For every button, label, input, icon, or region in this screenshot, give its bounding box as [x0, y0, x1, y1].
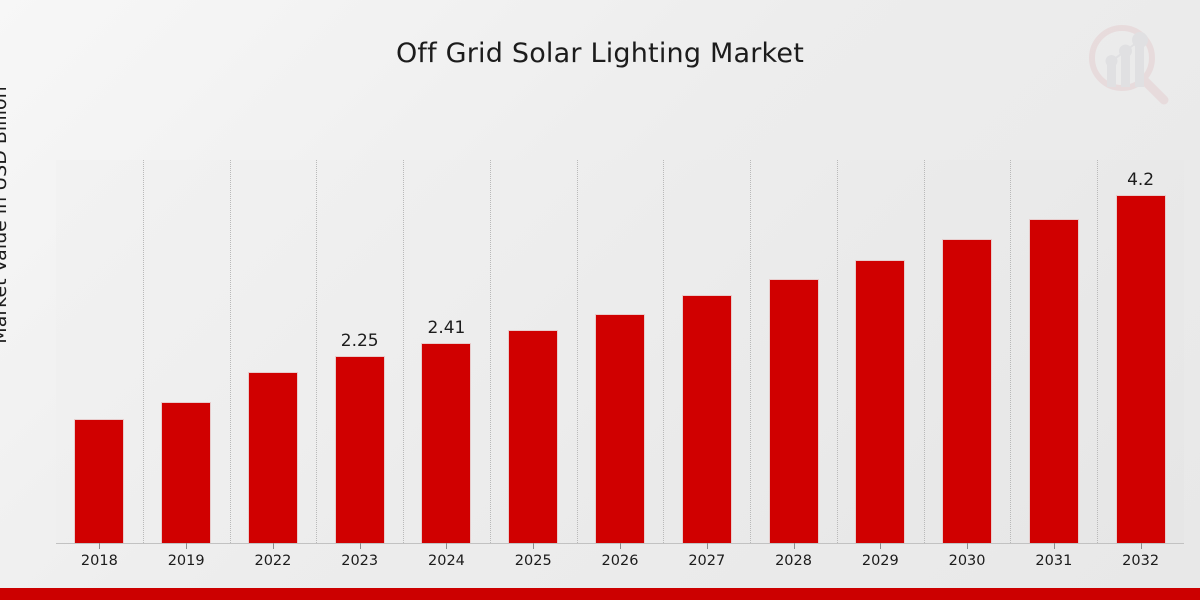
x-tick-label-2023: 2023 — [320, 553, 400, 569]
x-tick-mark-2032 — [1141, 543, 1142, 549]
bar-2018[interactable] — [74, 419, 124, 543]
x-tick-label-2027: 2027 — [667, 553, 747, 569]
x-tick-mark-2024 — [446, 543, 447, 549]
x-tick-label-2030: 2030 — [927, 553, 1007, 569]
gridline — [924, 160, 925, 543]
x-tick-label-2032: 2032 — [1101, 553, 1181, 569]
x-tick-label-2026: 2026 — [580, 553, 660, 569]
x-tick-mark-2018 — [99, 543, 100, 549]
bar-value-label-2024: 2.41 — [401, 318, 491, 338]
x-tick-mark-2031 — [1054, 543, 1055, 549]
x-tick-label-2018: 2018 — [59, 553, 139, 569]
x-tick-mark-2025 — [533, 543, 534, 549]
gridline — [663, 160, 664, 543]
bar-2025[interactable] — [508, 330, 558, 543]
gridline — [490, 160, 491, 543]
bar-2030[interactable] — [942, 239, 992, 543]
x-tick-label-2025: 2025 — [493, 553, 573, 569]
bar-2032[interactable] — [1116, 195, 1166, 543]
x-tick-mark-2028 — [794, 543, 795, 549]
bar-2023[interactable] — [335, 356, 385, 543]
bar-value-label-2032: 4.2 — [1096, 170, 1186, 190]
bar-2027[interactable] — [682, 295, 732, 543]
gridline — [837, 160, 838, 543]
bar-2029[interactable] — [855, 260, 905, 543]
magnifier-bar-chart-logo — [1080, 18, 1172, 110]
bar-2019[interactable] — [161, 402, 211, 543]
bar-2026[interactable] — [595, 314, 645, 543]
x-tick-label-2031: 2031 — [1014, 553, 1094, 569]
chart-page: Off Grid Solar Lighting Market Market Va… — [0, 0, 1200, 600]
gridline — [230, 160, 231, 543]
gridline — [1010, 160, 1011, 543]
x-tick-mark-2026 — [620, 543, 621, 549]
x-tick-mark-2022 — [273, 543, 274, 549]
gridline — [1097, 160, 1098, 543]
x-tick-label-2024: 2024 — [406, 553, 486, 569]
footer-bar — [0, 588, 1200, 600]
gridline — [316, 160, 317, 543]
x-tick-mark-2029 — [880, 543, 881, 549]
gridline — [143, 160, 144, 543]
bar-2028[interactable] — [769, 279, 819, 543]
x-tick-label-2029: 2029 — [840, 553, 920, 569]
x-tick-mark-2023 — [360, 543, 361, 549]
x-tick-mark-2030 — [967, 543, 968, 549]
bar-2024[interactable] — [421, 343, 471, 543]
page-title: Off Grid Solar Lighting Market — [0, 38, 1200, 69]
bar-2031[interactable] — [1029, 219, 1079, 543]
x-tick-label-2028: 2028 — [754, 553, 834, 569]
x-tick-mark-2019 — [186, 543, 187, 549]
gridline — [750, 160, 751, 543]
bar-value-label-2023: 2.25 — [315, 331, 405, 351]
x-tick-label-2019: 2019 — [146, 553, 226, 569]
bar-2022[interactable] — [248, 372, 298, 543]
plot-area — [56, 160, 1184, 543]
gridline — [577, 160, 578, 543]
y-axis-title: Market Value in USD Billion — [0, 15, 11, 415]
x-tick-mark-2027 — [707, 543, 708, 549]
gridline — [403, 160, 404, 543]
x-tick-label-2022: 2022 — [233, 553, 313, 569]
